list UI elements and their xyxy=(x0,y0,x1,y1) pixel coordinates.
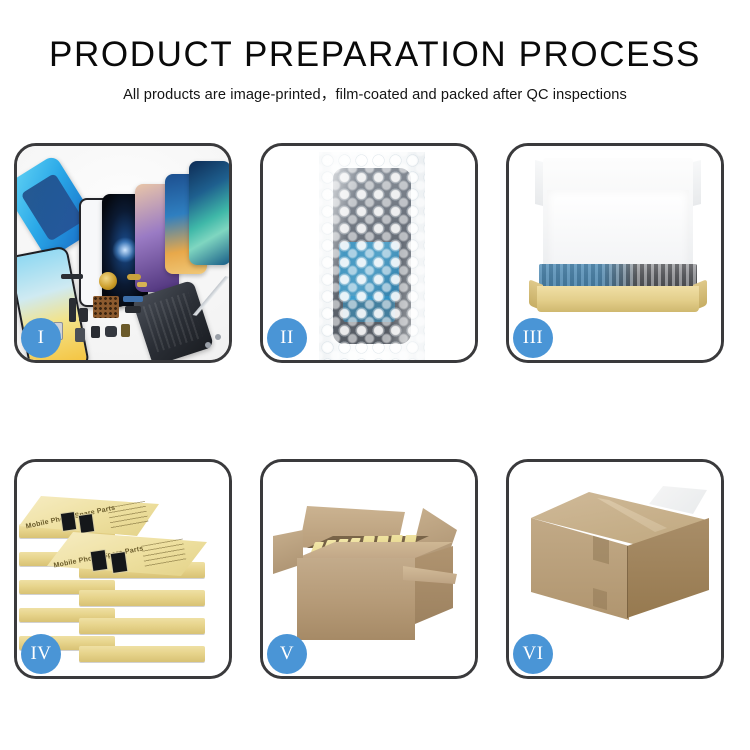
process-step-panel-2[interactable]: II xyxy=(260,143,478,363)
screw-part xyxy=(205,342,211,348)
step-badge-3: III xyxy=(513,318,553,358)
connector-strip-part xyxy=(125,306,141,313)
process-step-grid: I II xyxy=(14,143,736,679)
box-front-wall xyxy=(537,286,699,312)
screw-part xyxy=(215,334,221,340)
product-preparation-infographic: PRODUCT PREPARATION PROCESS All products… xyxy=(0,0,750,750)
page-title: PRODUCT PREPARATION PROCESS xyxy=(0,0,750,76)
kraft-box-window xyxy=(60,511,77,532)
carton-front-face xyxy=(297,558,415,640)
step-badge-5: V xyxy=(267,634,307,674)
button-part xyxy=(91,326,100,338)
camera-module-part xyxy=(75,328,85,342)
process-step-panel-4[interactable]: Mobile Phone Spare Parts Mobile Phone Sp… xyxy=(14,459,232,679)
carton-seam-lower xyxy=(593,588,607,610)
blue-flex-part xyxy=(123,296,143,302)
step-badge-4: IV xyxy=(21,634,61,674)
gold-connector-part xyxy=(127,274,141,280)
phone-screen-wave xyxy=(189,161,229,265)
copper-coil-part xyxy=(99,272,117,290)
carton-seam-upper xyxy=(593,536,609,565)
gold-bracket-part xyxy=(137,282,147,287)
speaker-part xyxy=(105,326,117,337)
foam-sheet xyxy=(547,190,689,272)
process-step-panel-6[interactable]: VI xyxy=(506,459,724,679)
kraft-box xyxy=(79,590,205,606)
chip-grid-part xyxy=(93,296,119,318)
kraft-box xyxy=(79,618,205,634)
process-step-panel-5[interactable]: V xyxy=(260,459,478,679)
tweezers-tool xyxy=(189,271,229,321)
ribbon-cable-part xyxy=(69,298,76,322)
step-badge-1: I xyxy=(21,318,61,358)
flex-cable-part xyxy=(61,274,83,279)
kraft-box xyxy=(79,646,205,662)
carton-vertical-edge xyxy=(627,546,628,618)
kraft-box-window xyxy=(90,549,109,572)
bracket-part xyxy=(121,324,130,337)
step-badge-6: VI xyxy=(513,634,553,674)
kraft-box-window xyxy=(110,551,129,574)
plastic-shine xyxy=(319,152,425,360)
step-badge-2: II xyxy=(267,318,307,358)
process-step-panel-1[interactable]: I xyxy=(14,143,232,363)
carton-side-face xyxy=(415,546,453,624)
process-step-panel-3[interactable]: III xyxy=(506,143,724,363)
page-subtitle: All products are image-printed，film-coat… xyxy=(0,76,750,105)
header: PRODUCT PREPARATION PROCESS All products… xyxy=(0,0,750,105)
kraft-box-window xyxy=(78,513,95,534)
small-module-part xyxy=(79,308,88,322)
